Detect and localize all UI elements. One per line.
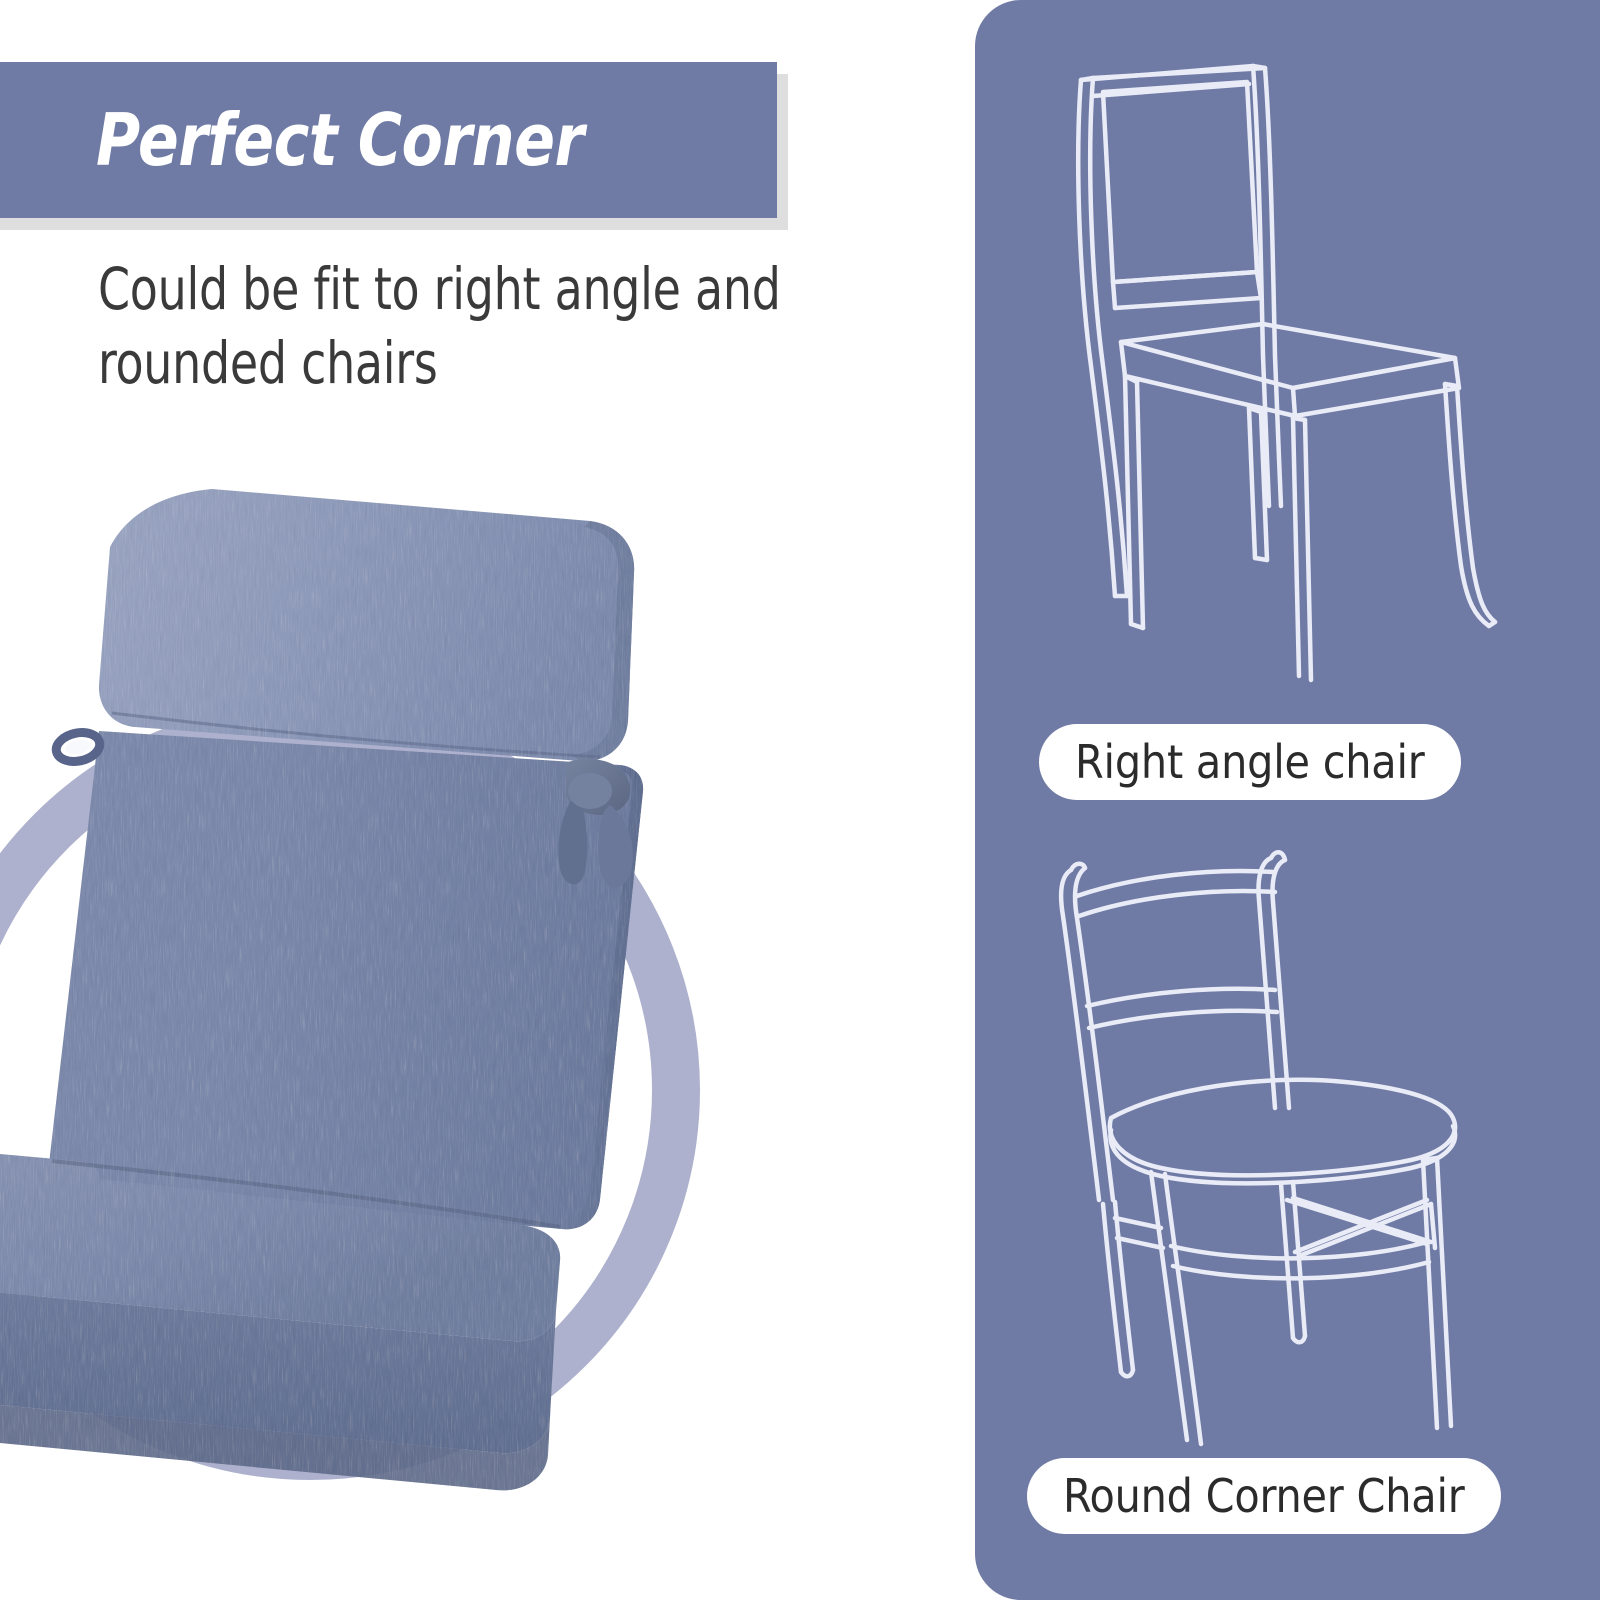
fabric-tie-loop — [54, 729, 103, 766]
title-banner: Perfect Corner — [0, 62, 777, 218]
back-cushion — [50, 731, 643, 1229]
page-title: Perfect Corner — [96, 98, 584, 182]
subtitle-text: Could be fit to right angle and rounded … — [98, 252, 837, 400]
label-right-angle-chair: Right angle chair — [1039, 724, 1461, 800]
label-right-angle-chair-text: Right angle chair — [1075, 735, 1425, 789]
round-corner-chair-illustration — [975, 800, 1600, 1460]
product-cushion-image — [0, 455, 700, 1515]
right-angle-chair-illustration — [975, 36, 1600, 686]
chair-examples-panel: Right angle chair — [975, 0, 1600, 1600]
label-round-corner-chair-text: Round Corner Chair — [1063, 1469, 1465, 1523]
infographic-canvas: Perfect Corner Could be fit to right ang… — [0, 0, 1600, 1600]
label-round-corner-chair: Round Corner Chair — [1027, 1458, 1501, 1534]
